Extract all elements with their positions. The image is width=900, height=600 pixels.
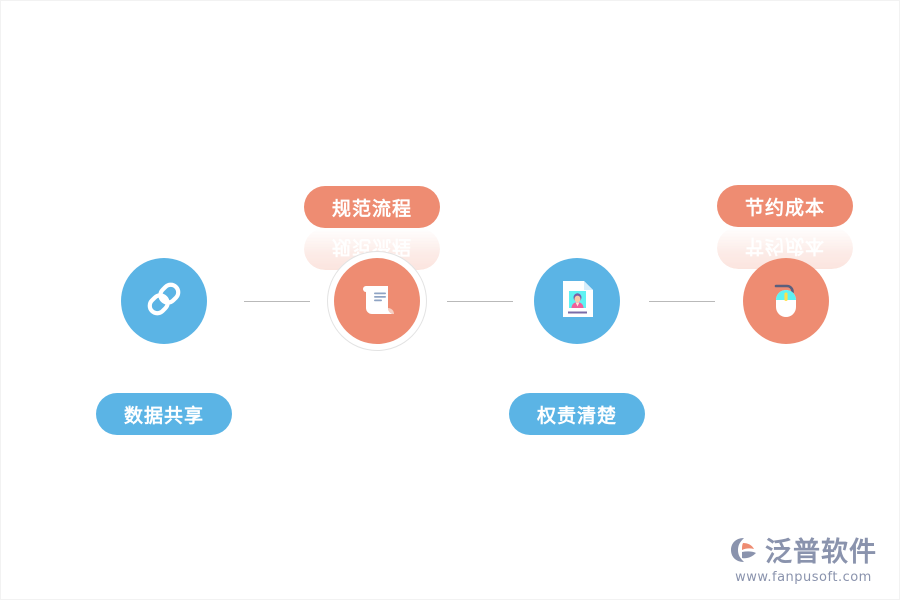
label-clear-responsibility[interactable]: 权责清楚 bbox=[509, 393, 645, 435]
node-save-cost[interactable] bbox=[743, 258, 829, 344]
watermark-url: www.fanpusoft.com bbox=[735, 570, 872, 585]
connector-1-2 bbox=[244, 301, 310, 302]
node-clear-responsibility[interactable] bbox=[534, 258, 620, 344]
connector-2-3 bbox=[447, 301, 513, 302]
node-standard-process[interactable] bbox=[334, 258, 420, 344]
watermark: 泛普软件 www.fanpusoft.com bbox=[730, 536, 877, 585]
label-data-sharing[interactable]: 数据共享 bbox=[96, 393, 232, 435]
fanpu-logo-icon bbox=[730, 536, 760, 568]
watermark-brand: 泛普软件 bbox=[765, 539, 877, 566]
id-card-icon bbox=[554, 275, 600, 327]
connector-3-4 bbox=[649, 301, 715, 302]
label-standard-process[interactable]: 规范流程 bbox=[304, 186, 440, 228]
chain-link-icon bbox=[140, 275, 188, 327]
computer-mouse-icon bbox=[761, 274, 811, 328]
diagram-canvas: 数据共享 规范流程 规范流程 bbox=[0, 0, 900, 600]
scroll-document-icon bbox=[354, 276, 400, 326]
node-data-sharing[interactable] bbox=[121, 258, 207, 344]
label-save-cost[interactable]: 节约成本 bbox=[717, 185, 853, 227]
